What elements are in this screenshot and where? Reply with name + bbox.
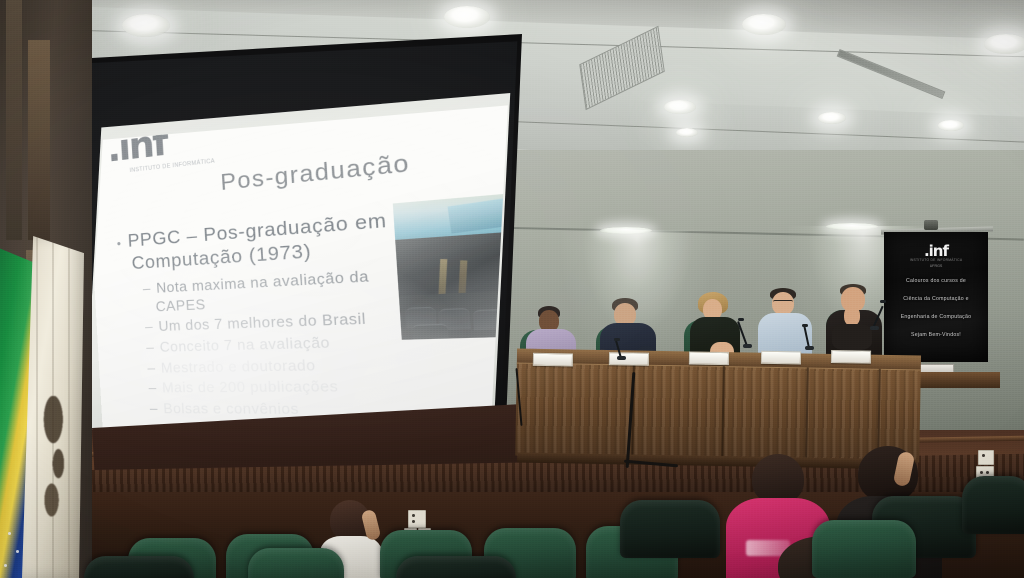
slide-sub-bullets: Nota maxima na avaliação da CAPES Um dos…: [119, 266, 402, 420]
ceiling-light: [444, 6, 490, 28]
ceiling-light: [742, 14, 786, 35]
wall-outlet-plate: [408, 510, 426, 528]
wall-panel: [6, 0, 22, 240]
ceiling-light: [818, 112, 846, 124]
auditorium-seat: [396, 556, 516, 578]
banner-cloth: .inf INSTITUTO DE INFORMÁTICA UFRGS Calo…: [884, 232, 988, 362]
ceiling-light: [676, 128, 698, 137]
banner-line-2: Ciência da Computação e: [889, 296, 983, 302]
flag-crest: [38, 396, 72, 526]
banner-text-block: Calouros dos cursos de Ciência da Comput…: [889, 278, 983, 350]
wall-outlet-plate: [978, 450, 994, 465]
banner-clip: [924, 220, 938, 230]
auditorium-seat: [248, 548, 344, 578]
slide-bullet-sub: Nota maxima na avaliação da CAPES: [142, 266, 394, 317]
welcome-banner: .inf INSTITUTO DE INFORMÁTICA UFRGS Calo…: [884, 228, 990, 376]
hvac-vent: [837, 49, 946, 99]
auditorium-seat: [620, 500, 720, 558]
microphone: [736, 318, 756, 348]
ceiling-light: [664, 100, 696, 114]
auditorium-seat: [84, 556, 194, 578]
nameplate: [689, 351, 729, 365]
banner-logo-subtitle: INSTITUTO DE INFORMÁTICA: [884, 258, 988, 262]
ceiling-light: [938, 120, 964, 131]
auditorium-seat: [812, 520, 916, 578]
microphone: [868, 300, 892, 330]
wall-light: [600, 227, 652, 234]
auditorium-seat: [962, 476, 1024, 534]
microphone: [612, 338, 630, 360]
slide-bullet-primary: PPGC – Pos-graduação em Computação (1973…: [116, 209, 391, 277]
microphone: [800, 324, 818, 350]
slide-bullet-sub-faded: Mestrado e doutorado: [147, 354, 399, 377]
banner-line-1: Calouros dos cursos de: [889, 278, 983, 284]
ceiling-light: [984, 34, 1024, 54]
banner-line-3: Engenharia de Computação: [889, 314, 983, 320]
nameplate: [533, 353, 573, 367]
nameplate: [831, 350, 871, 364]
nameplate: [761, 351, 801, 365]
wall-panel: [28, 40, 50, 240]
auditorium-photo: .inf INSTITUTO DE INFORMÁTICA UFRGS Calo…: [0, 0, 1024, 578]
slide-body: PPGC – Pos-graduação em Computação (1973…: [116, 209, 402, 423]
banner-logo-subtitle-2: UFRGS: [884, 264, 988, 268]
banner-line-4: Sejam Bem-Vindos!: [889, 332, 983, 338]
hvac-vent: [579, 26, 665, 110]
wall-light: [826, 223, 878, 230]
slide-bullet-sub-faded: Mais de 200 publicações: [148, 377, 400, 398]
eyeglasses: [773, 300, 793, 305]
